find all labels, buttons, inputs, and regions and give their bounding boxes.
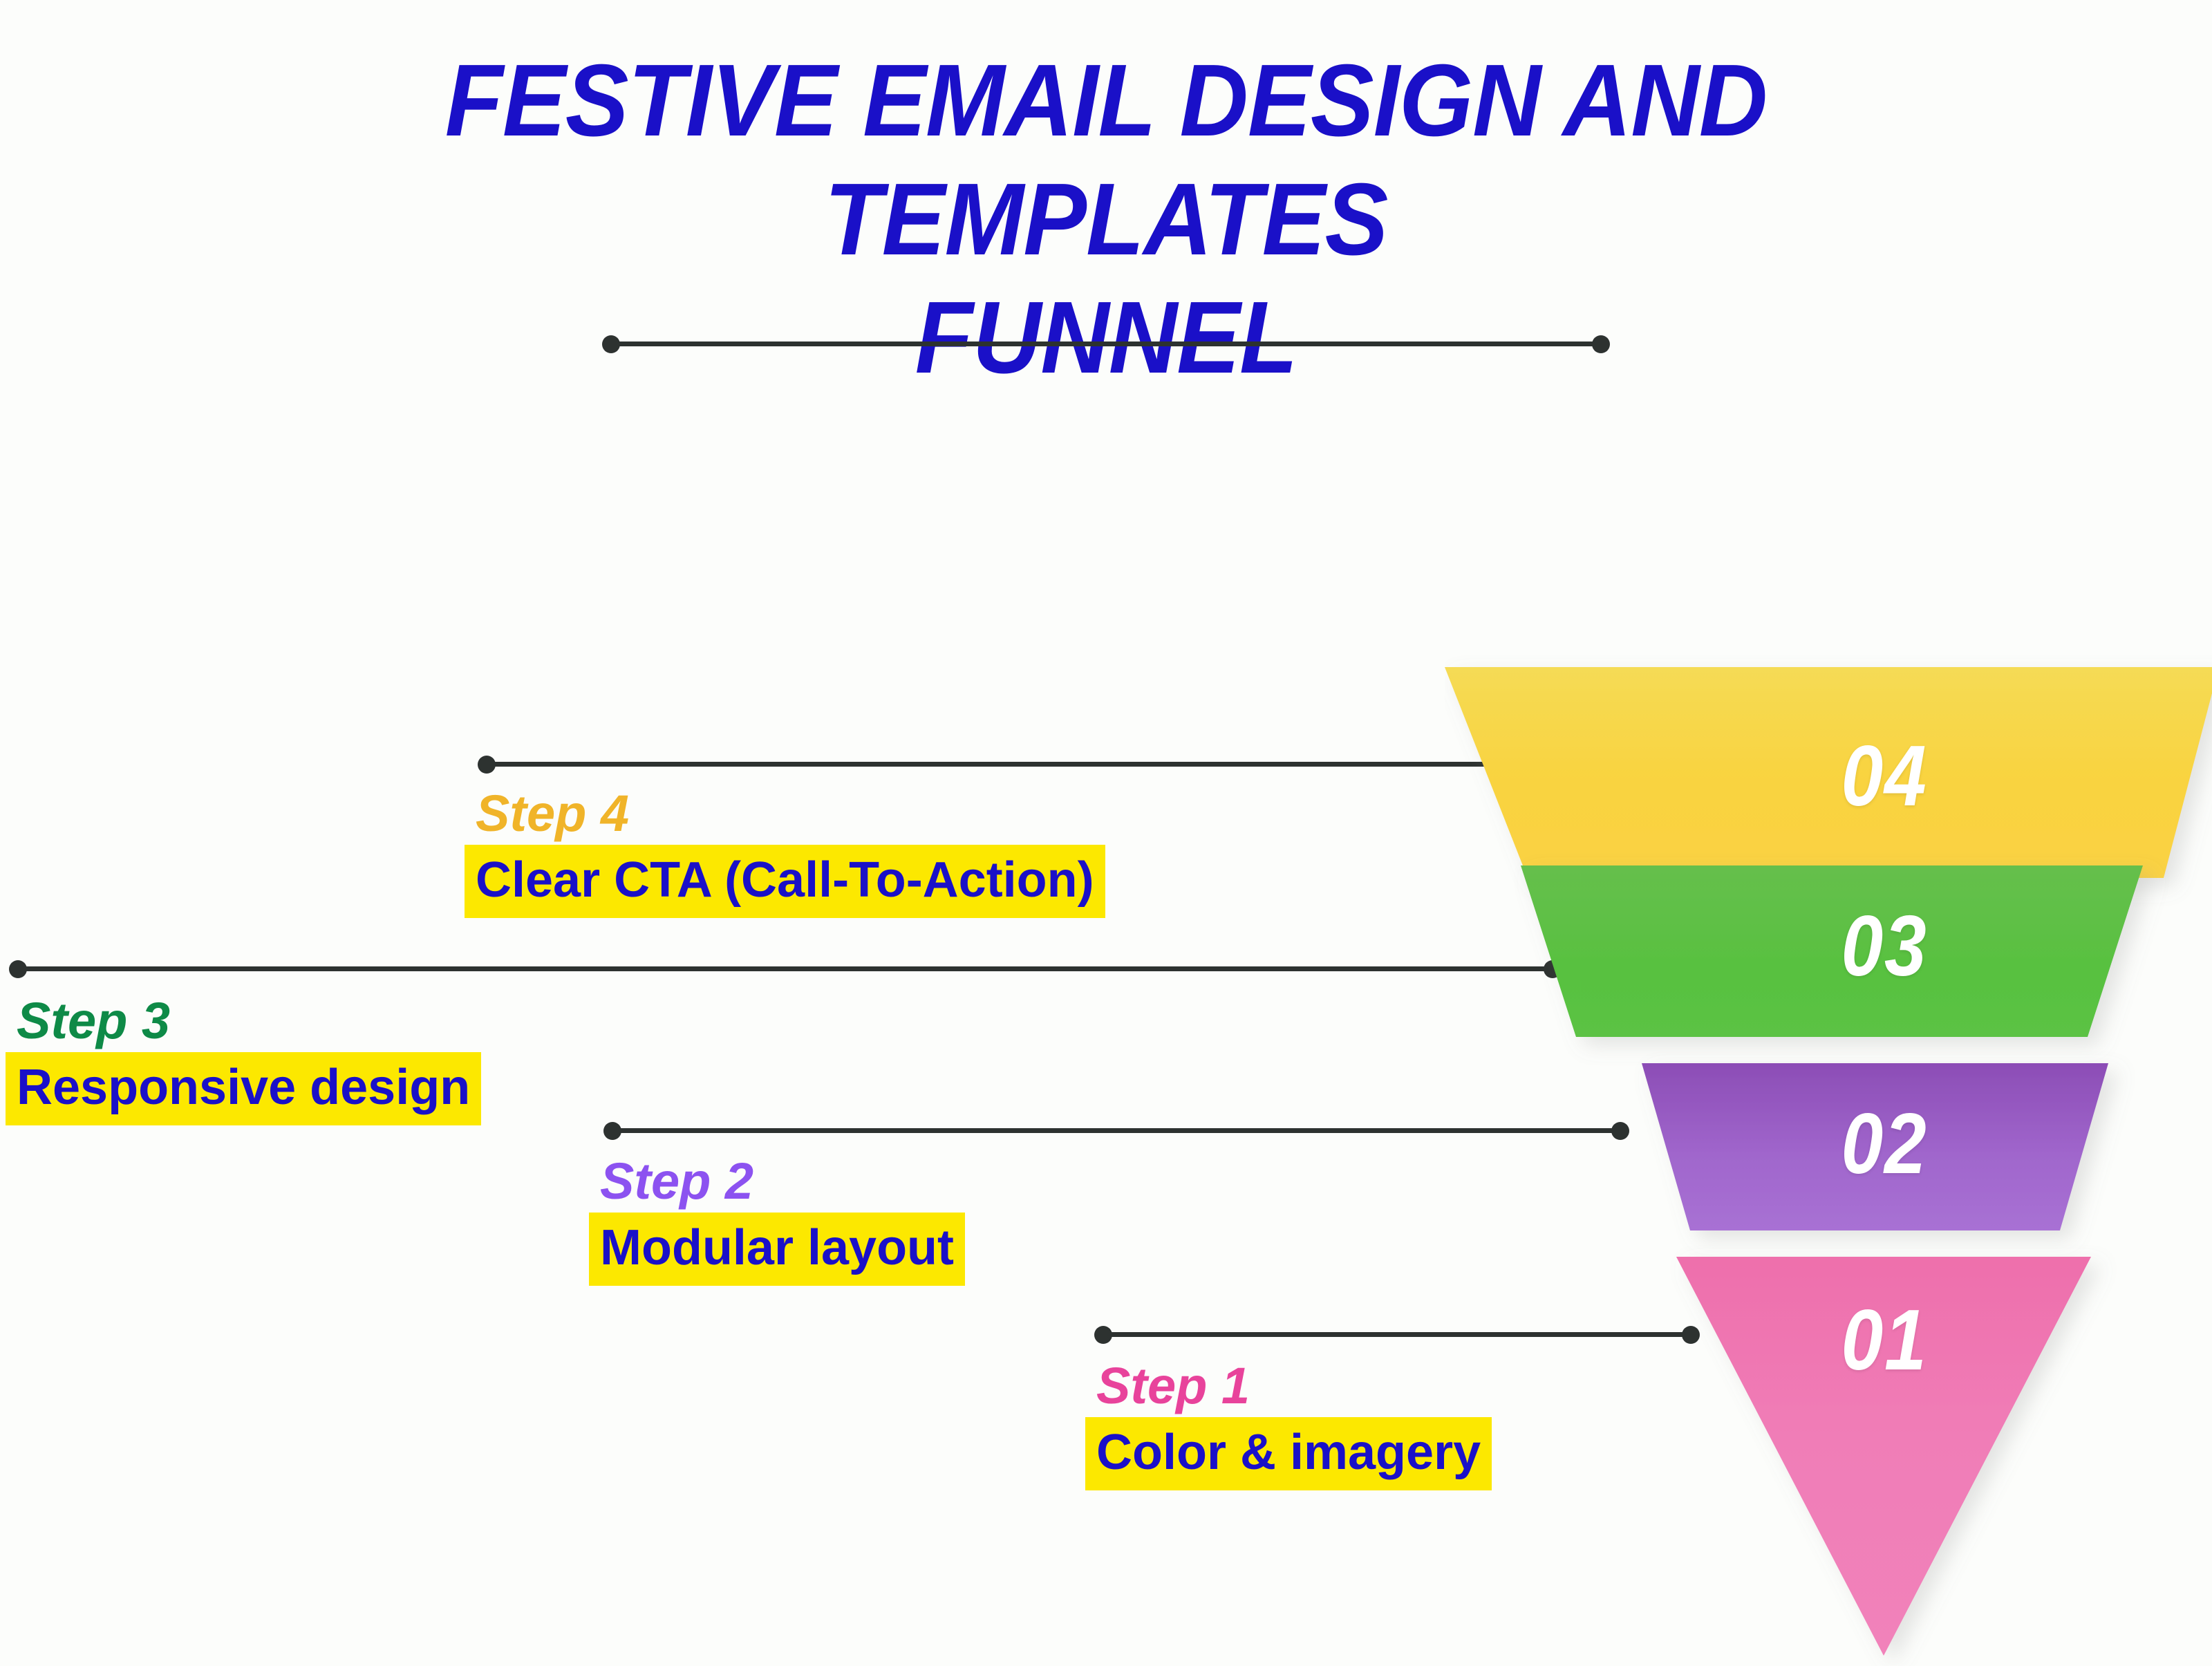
connector-step-4 (484, 762, 1497, 767)
step-2-kicker: Step 2 (589, 1156, 965, 1207)
connector-dot-left (9, 960, 27, 978)
funnel-number-03: 03 (1841, 897, 1928, 995)
connector-dot-left (478, 756, 496, 774)
connector-dot-left (1094, 1326, 1112, 1344)
step-4-description: Clear CTA (Call-To-Action) (465, 845, 1105, 918)
funnel-segment-04[interactable] (1445, 667, 2212, 878)
step-3-kicker: Step 3 (6, 995, 481, 1047)
funnel-number-01: 01 (1841, 1291, 1928, 1389)
funnel-segment-03[interactable] (1521, 865, 2143, 1037)
step-block-1[interactable]: Step 1 Color & imagery (1085, 1360, 1492, 1490)
connector-step-3 (15, 966, 1555, 971)
funnel-number-02: 02 (1841, 1095, 1928, 1193)
step-1-description: Color & imagery (1085, 1417, 1492, 1490)
funnel-shapes (1445, 650, 2212, 1666)
step-2-description: Modular layout (589, 1213, 965, 1286)
connector-dot-left (602, 335, 620, 353)
step-3-description: Responsive design (6, 1052, 481, 1125)
step-4-kicker: Step 4 (465, 788, 1105, 839)
connector-dot-left (603, 1122, 621, 1140)
slide-canvas: FESTIVE EMAIL DESIGN AND TEMPLATES FUNNE… (0, 0, 2212, 1659)
connector-dot-right (1592, 335, 1610, 353)
funnel-graphic: 04 03 02 01 (1445, 650, 2212, 1666)
title-underline-connector (608, 341, 1604, 346)
step-block-3[interactable]: Step 3 Responsive design (6, 995, 481, 1125)
step-block-4[interactable]: Step 4 Clear CTA (Call-To-Action) (465, 788, 1105, 918)
funnel-number-04: 04 (1841, 727, 1928, 825)
step-block-2[interactable]: Step 2 Modular layout (589, 1156, 965, 1286)
step-1-kicker: Step 1 (1085, 1360, 1492, 1412)
